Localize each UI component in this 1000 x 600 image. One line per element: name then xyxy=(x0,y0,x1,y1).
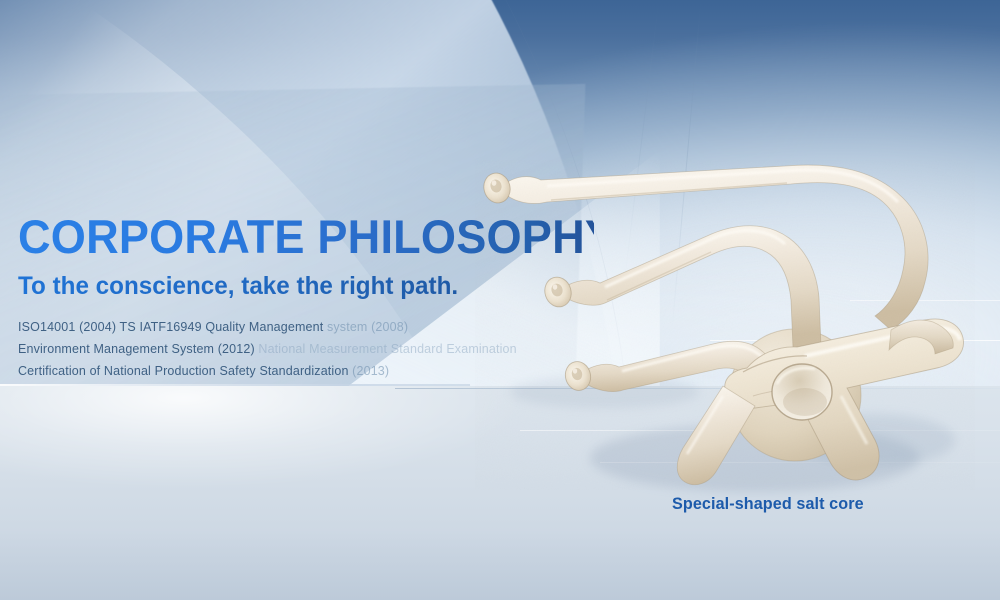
table-highlight xyxy=(0,386,520,506)
certification-line: Environment Management System (2012) Nat… xyxy=(18,338,618,360)
text-content-block: CORPORATE PHILOSOPHY To the conscience, … xyxy=(18,212,618,382)
certification-text: Environment Management System (2012) xyxy=(18,342,255,356)
product-caption: Special-shaped salt core xyxy=(672,494,864,514)
certification-text: ISO14001 (2004) TS IATF16949 Quality Man… xyxy=(18,320,323,334)
certification-line: ISO14001 (2004) TS IATF16949 Quality Man… xyxy=(18,316,618,338)
bottom-vignette xyxy=(0,530,1000,600)
certification-text-faded: (2013) xyxy=(349,364,390,378)
certification-list: ISO14001 (2004) TS IATF16949 Quality Man… xyxy=(18,316,618,382)
corporate-philosophy-banner: CORPORATE PHILOSOPHY To the conscience, … xyxy=(0,0,1000,600)
certification-text-faded: system (2008) xyxy=(323,320,408,334)
certification-text-faded: National Measurement Standard Examinatio… xyxy=(255,342,517,356)
certification-text: Certification of National Production Saf… xyxy=(18,364,349,378)
page-title: CORPORATE PHILOSOPHY xyxy=(18,212,594,262)
page-subtitle: To the conscience, take the right path. xyxy=(18,272,600,300)
certification-line: Certification of National Production Saf… xyxy=(18,360,618,382)
table-front-edge xyxy=(0,384,470,386)
